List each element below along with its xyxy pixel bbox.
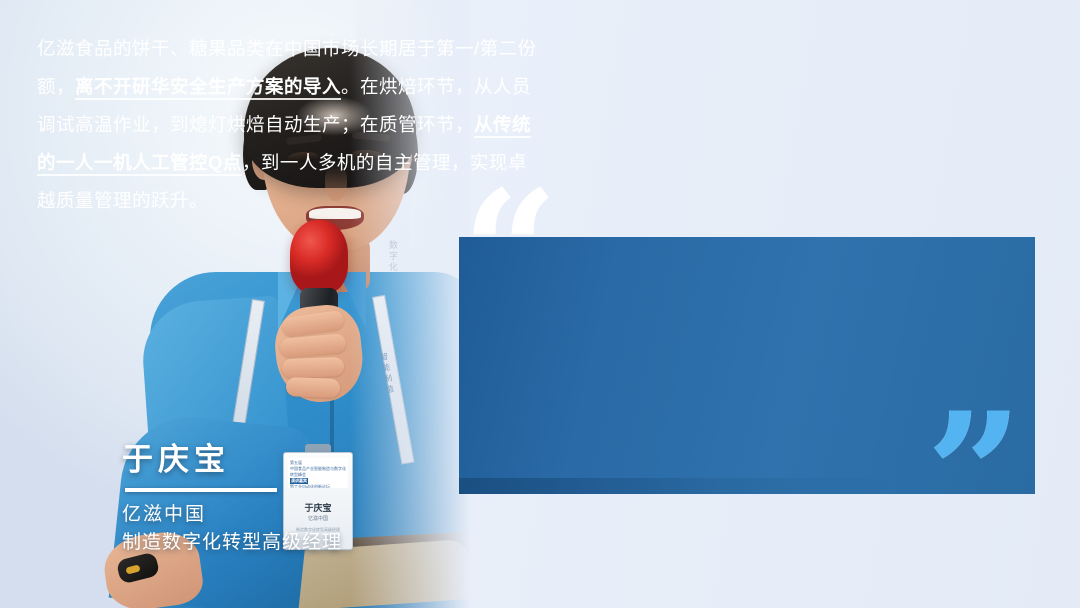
quote-close-mark-accent: ” (926, 390, 1023, 558)
finger-4 (286, 377, 341, 398)
speaker-role: 制造数字化转型高级经理 (122, 529, 452, 557)
microphone-head (290, 220, 348, 294)
speaker-identity: 于庆宝 亿滋中国 制造数字化转型高级经理 (122, 440, 452, 557)
speaker-company: 亿滋中国 (122, 501, 452, 529)
speaker-name: 于庆宝 (122, 440, 452, 480)
name-divider (125, 488, 277, 492)
quote-text: 亿滋食品的饼干、糖果品类在中国市场长期居于第一/第二份额，离不开研华安全生产方案… (37, 30, 542, 220)
finger-3 (282, 357, 345, 378)
quote-highlight-1: 离不开研华安全生产方案的导入 (75, 76, 341, 100)
quote-card: 智能制造 数字化转型 智能制造 (0, 0, 1080, 608)
